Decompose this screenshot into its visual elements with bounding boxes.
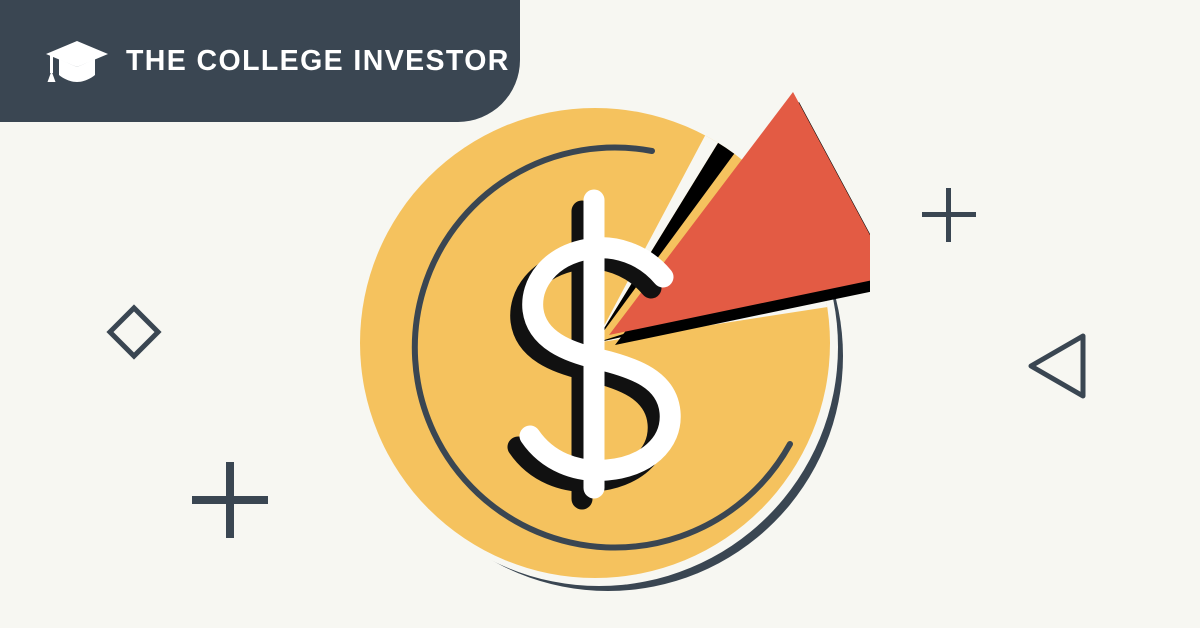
brand-banner: THE COLLEGE INVESTOR <box>0 0 520 122</box>
triangle-outline-icon <box>1025 330 1091 402</box>
coin-pie-chart-illustration <box>330 78 870 618</box>
plus-large-icon <box>190 460 270 540</box>
graduation-cap-icon <box>44 37 110 85</box>
brand-name: THE COLLEGE INVESTOR <box>126 45 510 78</box>
diamond-outline-icon <box>104 302 164 362</box>
share-card-canvas: THE COLLEGE INVESTOR <box>0 0 1200 628</box>
plus-small-icon <box>920 186 978 244</box>
